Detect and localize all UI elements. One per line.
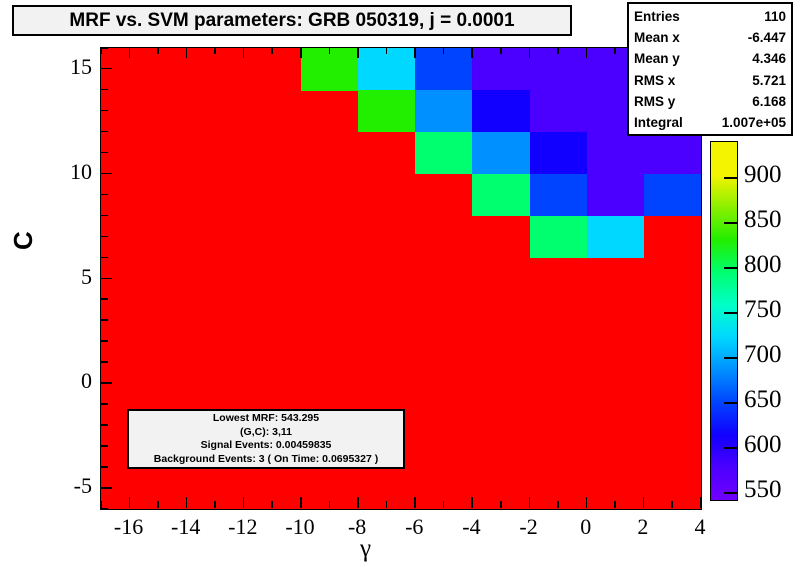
y-tick [100,403,108,405]
palette-tick [724,312,738,314]
x-tick-top [357,47,359,58]
palette-band [711,435,737,468]
stats-label: Mean x [634,27,680,48]
x-tick [500,501,502,508]
x-tick [529,497,531,508]
stats-row: Mean y4.346 [634,48,786,69]
stats-label: RMS y [634,91,675,112]
palette-tick-label: 700 [744,341,782,369]
x-tick [100,501,102,508]
x-tick [614,501,616,508]
palette-band [711,272,737,305]
x-tick-top [300,47,302,58]
heatmap-cell [530,216,588,259]
palette-tick-label: 900 [744,161,782,189]
stats-value: 1.007e+05 [722,112,786,133]
info-lowest-mrf: Lowest MRF: 543.295 [129,412,403,426]
x-tick-top [386,47,388,54]
heatmap-cell [530,48,588,91]
info-background-events: Background Events: 3 ( On Time: 0.069532… [129,453,403,467]
x-tick [586,497,588,508]
palette-tick-label: 550 [744,476,782,504]
statistics-box: Entries110Mean x-6.447Mean y4.346RMS x5.… [627,2,793,136]
heatmap-cell [587,174,645,217]
stats-row: RMS x5.721 [634,70,786,91]
x-tick [557,501,559,508]
x-tick-top [414,47,416,58]
x-tick-top [471,47,473,58]
heatmap-cell [415,48,473,91]
heatmap-cell [530,90,588,133]
x-tick-top [529,47,531,58]
x-tick-top [214,47,216,54]
x-tick [414,497,416,508]
palette-band [711,467,737,500]
page-title: MRF vs. SVM parameters: GRB 050319, j = … [69,10,514,32]
x-tick-label: -4 [441,514,501,540]
x-tick-top [129,47,131,58]
x-tick-label: -14 [156,514,216,540]
x-tick-top [614,47,616,54]
palette-tick [724,492,738,494]
x-axis-title: γ [360,535,371,563]
palette-tick-label: 850 [744,206,782,234]
palette-band [711,402,737,435]
x-tick [329,501,331,508]
x-tick [643,497,645,508]
heatmap-cell [530,174,588,217]
y-tick [100,340,108,342]
x-tick-top [329,47,331,54]
stats-label: Entries [634,6,680,27]
y-tick [100,445,108,447]
y-tick [100,173,112,175]
stats-value: 5.721 [752,70,786,91]
x-tick-label: -6 [384,514,444,540]
y-tick [100,424,108,426]
x-tick-label: -8 [327,514,387,540]
x-tick-top [586,47,588,58]
y-tick [100,215,108,217]
y-tick-label: 15 [38,54,92,80]
palette-tick-label: 750 [744,296,782,324]
y-tick [100,382,112,384]
x-tick [157,501,159,508]
x-tick-top [243,47,245,58]
stats-row: Integral1.007e+05 [634,112,786,133]
heatmap-cell [587,132,645,175]
stats-row: Entries110 [634,6,786,27]
palette-tick [724,177,738,179]
x-tick-label: -2 [499,514,559,540]
x-tick [357,497,359,508]
y-tick [100,47,108,49]
y-tick-label: 10 [38,159,92,185]
stats-row: Mean x-6.447 [634,27,786,48]
x-tick-label: -12 [213,514,273,540]
y-tick-label: -5 [38,473,92,499]
heatmap-cell [301,48,359,91]
y-tick [100,319,108,321]
x-tick-label: -16 [99,514,159,540]
y-tick-label: 5 [38,264,92,290]
y-tick [100,466,108,468]
x-tick-label: 0 [556,514,616,540]
x-tick-top [500,47,502,54]
stats-value: 110 [764,6,786,27]
palette-band [711,337,737,370]
heatmap-cell [472,90,530,133]
y-axis-title: C [8,231,39,250]
heatmap-cell [472,48,530,91]
y-tick [100,298,108,300]
y-tick [100,257,108,259]
x-tick [243,497,245,508]
palette-tick [724,357,738,359]
heatmap-cell [530,132,588,175]
chart-title-box: MRF vs. SVM parameters: GRB 050319, j = … [12,5,572,36]
heatmap-cell [472,174,530,217]
y-tick [100,152,108,154]
stats-label: RMS x [634,70,675,91]
x-tick [671,501,673,508]
x-tick [471,497,473,508]
palette-band [711,305,737,338]
x-tick-top [271,47,273,54]
x-tick-label: 2 [613,514,673,540]
palette-tick-label: 600 [744,431,782,459]
heatmap-cell [358,48,416,91]
y-tick [100,68,112,70]
x-tick-top [186,47,188,58]
x-tick-label: -10 [270,514,330,540]
x-tick [386,501,388,508]
y-tick [100,278,112,280]
palette-band [711,370,737,403]
lowest-mrf-info-box: Lowest MRF: 543.295 (G,C): 3,11 Signal E… [127,409,405,469]
x-tick-top [157,47,159,54]
stats-row: RMS y6.168 [634,91,786,112]
heatmap-cell [358,90,416,133]
palette-tick [724,222,738,224]
heatmap-cell [644,174,702,217]
palette-band [711,142,737,175]
palette-tick [724,447,738,449]
stats-value: 4.346 [752,48,786,69]
info-gc-parameters: (G,C): 3,11 [129,426,403,440]
stats-value: 6.168 [752,91,786,112]
stats-label: Mean y [634,48,680,69]
palette-tick-label: 650 [744,386,782,414]
stats-value: -6.447 [748,27,786,48]
x-tick [700,497,702,508]
y-tick [100,89,108,91]
info-signal-events: Signal Events: 0.00459835 [129,439,403,453]
heatmap-cell [415,90,473,133]
heatmap-cell [587,216,645,259]
x-tick [300,497,302,508]
x-tick [129,497,131,508]
x-tick-top [443,47,445,54]
y-tick [100,194,108,196]
x-tick [186,497,188,508]
y-tick [100,236,108,238]
palette-tick [724,402,738,404]
x-tick [443,501,445,508]
y-tick [100,508,108,510]
heatmap-cell [472,132,530,175]
x-tick [271,501,273,508]
palette-tick-label: 800 [744,251,782,279]
y-tick [100,361,108,363]
stats-label: Integral [634,112,683,133]
palette-band [711,175,737,208]
heatmap-cell [644,132,702,175]
x-tick-top [557,47,559,54]
y-tick-label: 0 [38,368,92,394]
heatmap-cell [415,132,473,175]
y-tick [100,131,108,133]
palette-tick [724,267,738,269]
x-tick-label: 4 [670,514,730,540]
y-tick [100,110,108,112]
y-tick [100,487,112,489]
x-tick [214,501,216,508]
